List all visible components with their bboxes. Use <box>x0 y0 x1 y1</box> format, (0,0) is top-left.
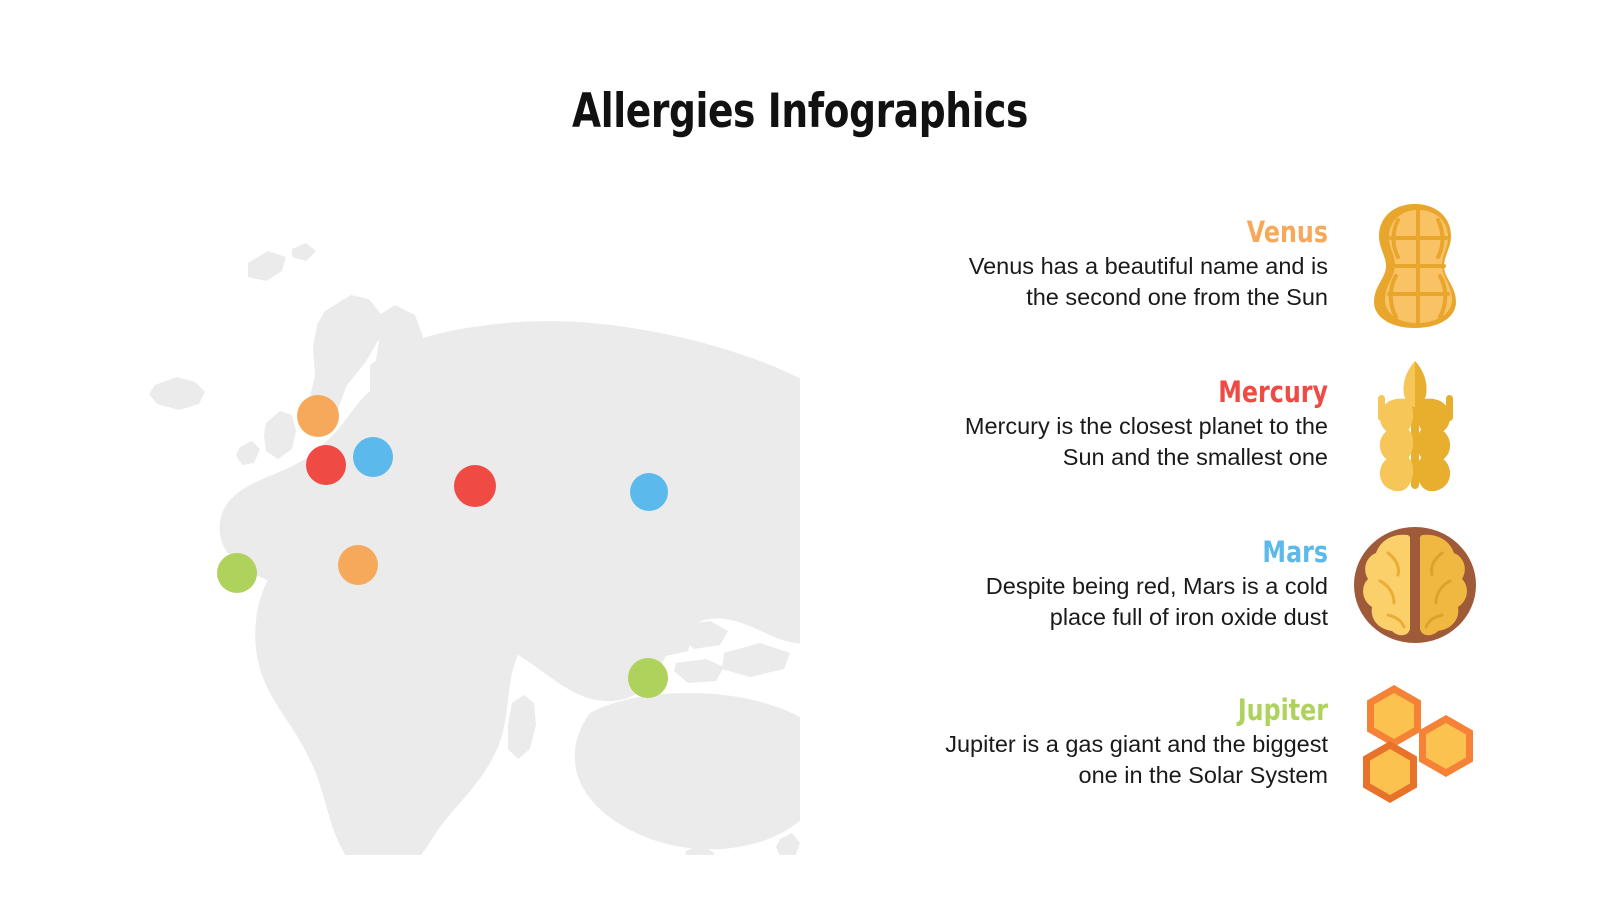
info-item-jupiter-text: Jupiter Jupiter is a gas giant and the b… <box>938 695 1350 792</box>
info-item-venus-heading: Venus <box>1008 217 1328 247</box>
honeycomb-icon <box>1350 676 1480 811</box>
marker-northern-europe[interactable] <box>297 395 339 437</box>
marker-australia[interactable] <box>628 658 668 698</box>
marker-western-europe[interactable] <box>306 445 346 485</box>
allergen-info-list: Venus Venus has a beautiful name and is … <box>880 190 1480 830</box>
info-item-mercury-heading: Mercury <box>1008 377 1328 407</box>
marker-east-asia[interactable] <box>630 473 668 511</box>
page-title: Allergies Infographics <box>160 84 1440 139</box>
info-item-venus[interactable]: Venus Venus has a beautiful name and is … <box>880 190 1480 340</box>
world-map-panel <box>120 215 800 855</box>
info-item-mars-text: Mars Despite being red, Mars is a cold p… <box>938 537 1350 634</box>
marker-west-africa[interactable] <box>217 553 257 593</box>
info-item-mars-body: Despite being red, Mars is a cold place … <box>938 571 1328 634</box>
info-item-venus-body: Venus has a beautiful name and is the se… <box>938 251 1328 314</box>
marker-arabian-peninsula[interactable] <box>338 545 378 585</box>
info-item-mercury-body: Mercury is the closest planet to the Sun… <box>938 411 1328 474</box>
info-item-jupiter-body: Jupiter is a gas giant and the biggest o… <box>938 729 1328 792</box>
info-item-mars[interactable]: Mars Despite being red, Mars is a cold p… <box>880 510 1480 660</box>
info-item-jupiter-heading: Jupiter <box>1008 695 1328 725</box>
world-map-graphic <box>120 215 800 855</box>
wheat-icon <box>1350 358 1480 493</box>
marker-south-asia[interactable] <box>454 465 496 507</box>
walnut-icon <box>1350 518 1480 653</box>
marker-central-asia[interactable] <box>353 437 393 477</box>
info-item-mercury-text: Mercury Mercury is the closest planet to… <box>938 377 1350 474</box>
peanut-icon <box>1350 198 1480 333</box>
info-item-mercury[interactable]: Mercury Mercury is the closest planet to… <box>880 350 1480 500</box>
info-item-jupiter[interactable]: Jupiter Jupiter is a gas giant and the b… <box>880 668 1480 818</box>
info-item-mars-heading: Mars <box>1008 537 1328 567</box>
info-item-venus-text: Venus Venus has a beautiful name and is … <box>938 217 1350 314</box>
